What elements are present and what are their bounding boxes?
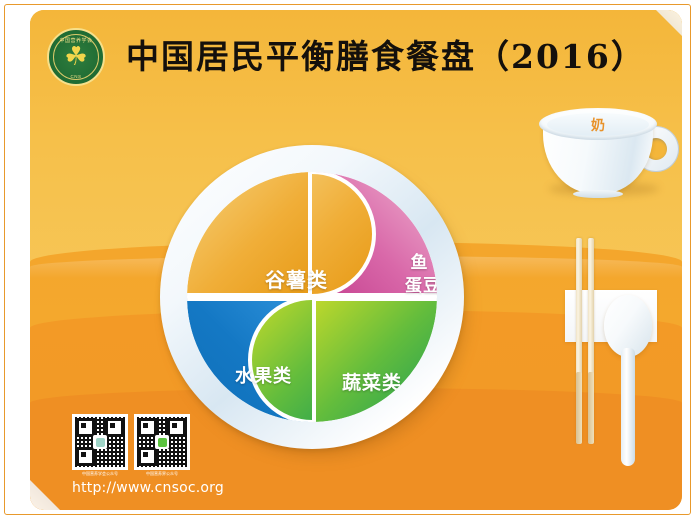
qr-code-2[interactable] xyxy=(134,414,190,470)
spoon-handle xyxy=(621,348,635,466)
footer-qr-block: 中国营养学会公众号 中国营养界公众号 http://www.cnsoc.org xyxy=(72,414,212,504)
qr-code-2-caption: 中国营养界公众号 xyxy=(134,472,190,476)
plate-graphic: 谷薯类 鱼 肉 蛋豆类 蔬菜类 水果类 xyxy=(160,145,470,455)
qr-code-1[interactable] xyxy=(72,414,128,470)
logo-text-wrap: 中国营养学会 CNS xyxy=(49,30,103,84)
poster-header: 中国营养学会 CNS ☘ 中国居民平衡膳食餐盘（2016） xyxy=(30,10,682,96)
logo-bottom-text: CNS xyxy=(49,74,103,79)
cup-milk-label: 奶 xyxy=(547,115,649,135)
qr-finder-top-right xyxy=(167,418,186,437)
qr-code-1-image xyxy=(75,417,125,467)
qr-center-logo-2 xyxy=(155,435,169,449)
plate-label-protein-line2: 蛋豆类 xyxy=(405,275,437,298)
cup-foot xyxy=(573,190,623,198)
qr-finder-top-left xyxy=(138,418,157,437)
qr-finder-top-left xyxy=(76,418,95,437)
plate-label-fruit: 水果类 xyxy=(235,362,292,388)
poster-panel: 中国营养学会 CNS ☘ 中国居民平衡膳食餐盘（2016） 谷薯类 xyxy=(30,10,682,510)
page-title: 中国居民平衡膳食餐盘（2016） xyxy=(126,30,646,78)
plate-label-protein-line1: 鱼 肉 xyxy=(405,252,437,275)
logo-top-text: 中国营养学会 xyxy=(49,37,103,44)
qr-finder-bottom-left xyxy=(138,447,157,466)
qr-finder-bottom-left xyxy=(76,447,95,466)
plate-label-protein: 鱼 肉 蛋豆类 xyxy=(405,252,437,298)
qr-code-1-caption: 中国营养学会公众号 xyxy=(72,472,128,476)
plate-inner-surface: 谷薯类 鱼 肉 蛋豆类 蔬菜类 水果类 xyxy=(187,172,437,422)
footer-website-url[interactable]: http://www.cnsoc.org xyxy=(72,480,232,496)
plate-label-vegetable: 蔬菜类 xyxy=(342,368,402,395)
qr-finder-top-right xyxy=(105,418,124,437)
plate-label-grain: 谷薯类 xyxy=(265,264,328,293)
qr-code-2-image xyxy=(137,417,187,467)
chinese-nutrition-society-logo-icon: 中国营养学会 CNS ☘ xyxy=(47,28,105,86)
chopstick-right-grip xyxy=(588,372,594,444)
chopstick-left-grip xyxy=(576,372,582,444)
milk-cup-graphic: 奶 xyxy=(525,98,682,203)
poster-root: 中国营养学会 CNS ☘ 中国居民平衡膳食餐盘（2016） 谷薯类 xyxy=(0,0,695,519)
qr-center-logo-1 xyxy=(93,435,107,449)
